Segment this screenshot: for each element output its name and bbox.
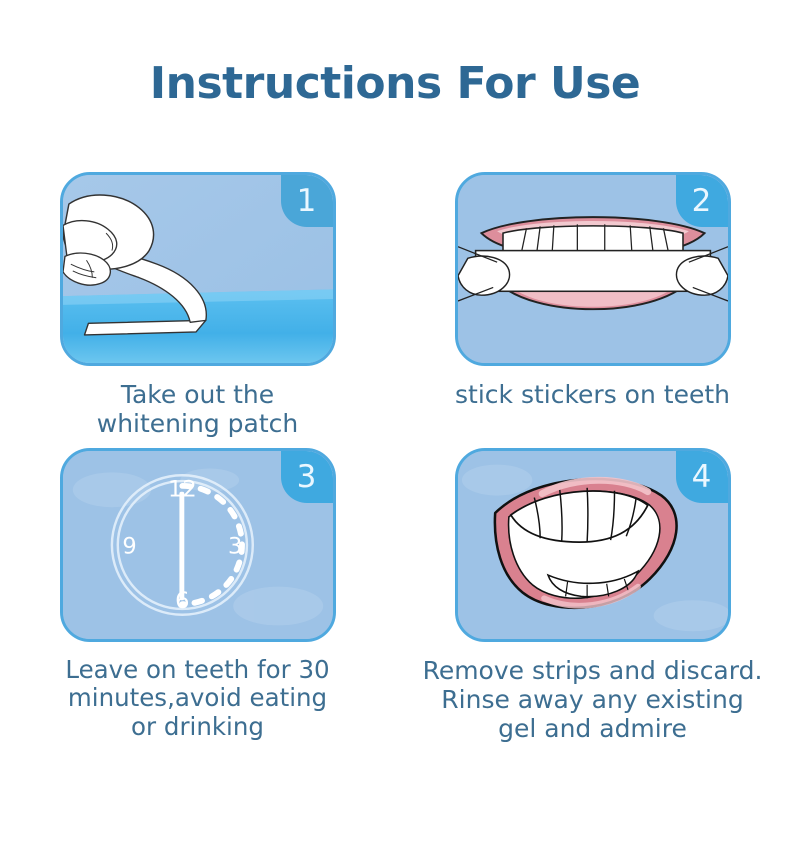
step-2-caption: stick stickers on teeth — [413, 380, 773, 409]
step-4-number-badge: 4 — [676, 451, 728, 503]
step-4-illustration-panel: 4 — [455, 448, 731, 642]
step-4: 4 Remove strips and discard. Rinse away … — [395, 448, 790, 743]
step-3: 12 3 6 9 3 Leave on teeth for 30 minutes… — [0, 448, 395, 743]
instructions-page: Instructions For Use — [0, 0, 790, 848]
svg-text:6: 6 — [175, 588, 189, 614]
step-3-number-badge: 3 — [281, 451, 333, 503]
step-1-number-badge: 1 — [281, 175, 333, 227]
step-3-caption: Leave on teeth for 30 minutes,avoid eati… — [18, 656, 378, 741]
svg-text:9: 9 — [122, 534, 136, 560]
svg-text:3: 3 — [228, 534, 242, 560]
page-title: Instructions For Use — [0, 62, 790, 106]
step-1: 1 Take out the whitening patch — [0, 172, 395, 438]
steps-grid: 1 Take out the whitening patch — [0, 172, 790, 743]
step-1-caption: Take out the whitening patch — [18, 380, 378, 438]
step-4-caption: Remove strips and discard. Rinse away an… — [413, 656, 773, 743]
step-1-illustration-panel: 1 — [60, 172, 336, 366]
step-2-number-badge: 2 — [676, 175, 728, 227]
svg-text:12: 12 — [168, 477, 197, 503]
step-2: 2 stick stickers on teeth — [395, 172, 790, 438]
step-3-illustration-panel: 12 3 6 9 3 — [60, 448, 336, 642]
step-2-illustration-panel: 2 — [455, 172, 731, 366]
